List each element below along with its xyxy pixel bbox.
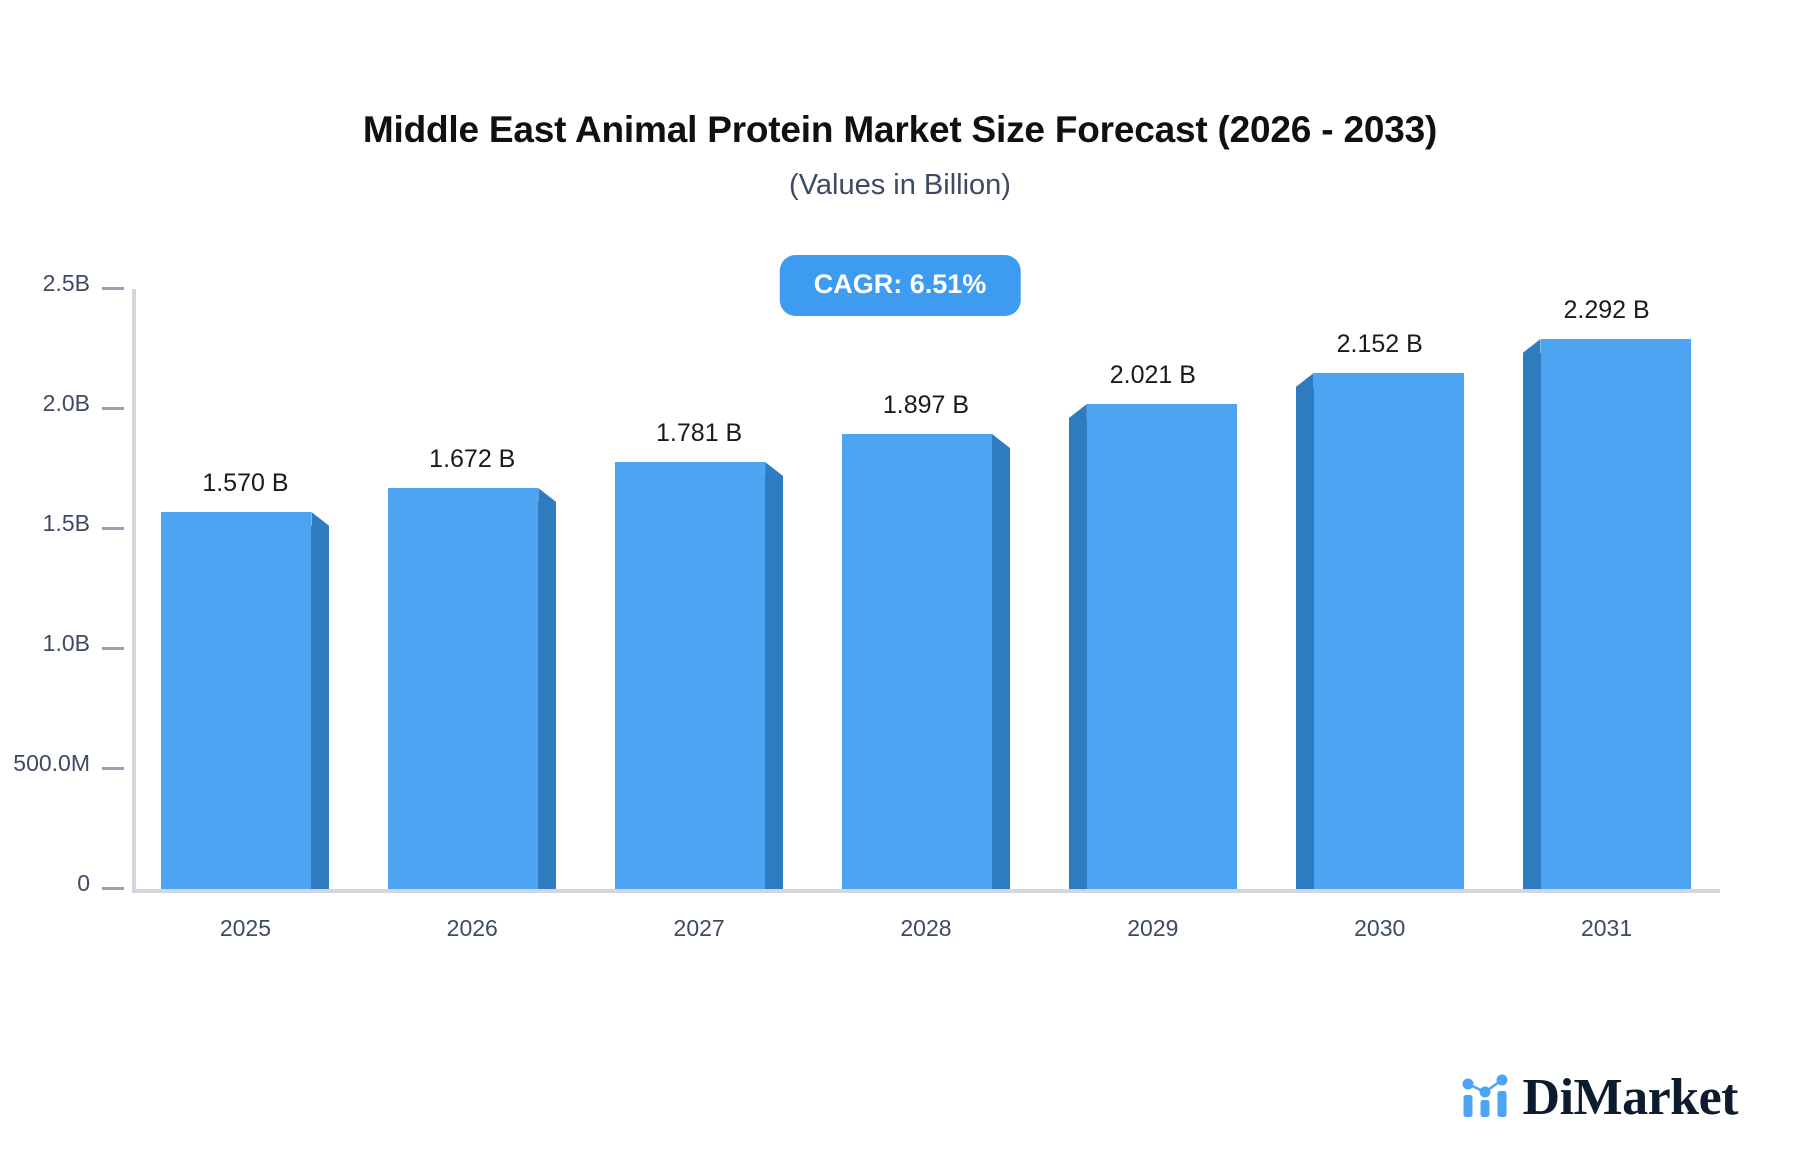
- bar-face[interactable]: [161, 512, 311, 889]
- page-title: Middle East Animal Protein Market Size F…: [0, 108, 1800, 152]
- bar-face[interactable]: [615, 462, 765, 889]
- bar-side-panel: [992, 448, 1010, 889]
- bar-value-label: 2.021 B: [1039, 363, 1266, 388]
- bar-group: 2.021 B2029: [1039, 289, 1266, 889]
- logo-text: DiMarket: [1523, 1072, 1738, 1124]
- bar-side-panel: [311, 526, 329, 889]
- chart-plot-area: 0500.0M1.0B1.5B2.0B2.5B 1.570 B20251.672…: [132, 289, 1720, 889]
- bar-group: 1.570 B2025: [132, 289, 359, 889]
- bar-side-panel: [1296, 387, 1314, 889]
- bar-side-panel: [538, 502, 556, 889]
- x-axis-tick-label: 2031: [1493, 917, 1720, 940]
- bar-value-label: 1.781 B: [586, 421, 813, 446]
- y-axis-tick-mark: [102, 527, 124, 530]
- y-axis-tick-mark: [102, 407, 124, 410]
- x-axis-tick-label: 2030: [1266, 917, 1493, 940]
- bar-value-label: 2.292 B: [1493, 298, 1720, 323]
- bar-side-panel: [1523, 353, 1541, 889]
- bar-series: 1.570 B20251.672 B20261.781 B20271.897 B…: [132, 289, 1720, 889]
- bar-group: 2.152 B2030: [1266, 289, 1493, 889]
- y-axis-tick-label: 2.0B: [43, 392, 90, 415]
- bar-value-label: 2.152 B: [1266, 332, 1493, 357]
- bar-top-bevel: [1069, 404, 1087, 418]
- x-axis-tick-label: 2027: [586, 917, 813, 940]
- bar-value-label: 1.672 B: [359, 447, 586, 472]
- x-axis-tick-label: 2026: [359, 917, 586, 940]
- bar-top-bevel: [765, 462, 783, 476]
- y-axis-tick-mark: [102, 287, 124, 290]
- bar-top-bevel: [538, 488, 556, 502]
- bar-chart-logo-icon: [1461, 1073, 1509, 1124]
- chart-subtitle: (Values in Billion): [0, 168, 1800, 203]
- chart-title-block: Middle East Animal Protein Market Size F…: [0, 108, 1800, 203]
- y-axis-tick-label: 1.0B: [43, 632, 90, 655]
- bar-face[interactable]: [1541, 339, 1691, 889]
- bar-top-bevel: [1523, 339, 1541, 353]
- bar-group: 1.672 B2026: [359, 289, 586, 889]
- bar-group: 2.292 B2031: [1493, 289, 1720, 889]
- bar-face[interactable]: [1314, 373, 1464, 889]
- bar-value-label: 1.897 B: [813, 393, 1040, 418]
- bar-group: 1.781 B2027: [586, 289, 813, 889]
- bar-group: 1.897 B2028: [813, 289, 1040, 889]
- y-axis-tick-label: 0: [77, 872, 90, 895]
- bar-side-panel: [765, 476, 783, 889]
- y-axis-tick-mark: [102, 647, 124, 650]
- bar-side-panel: [1069, 418, 1087, 889]
- bar-face[interactable]: [388, 488, 538, 889]
- y-axis-tick-mark: [102, 767, 124, 770]
- bar-top-bevel: [311, 512, 329, 526]
- brand-logo: DiMarket: [1461, 1072, 1738, 1124]
- y-axis-tick-label: 1.5B: [43, 512, 90, 535]
- bar-face[interactable]: [1087, 404, 1237, 889]
- y-axis-tick-label: 2.5B: [43, 272, 90, 295]
- x-axis-tick-label: 2029: [1039, 917, 1266, 940]
- x-axis-tick-label: 2025: [132, 917, 359, 940]
- bar-top-bevel: [992, 434, 1010, 448]
- x-axis-tick-label: 2028: [813, 917, 1040, 940]
- y-axis-tick-label: 500.0M: [13, 752, 90, 775]
- y-axis-tick-mark: [102, 887, 124, 890]
- bar-face[interactable]: [842, 434, 992, 889]
- bar-value-label: 1.570 B: [132, 471, 359, 496]
- x-axis-line: [132, 889, 1720, 893]
- bar-top-bevel: [1296, 373, 1314, 387]
